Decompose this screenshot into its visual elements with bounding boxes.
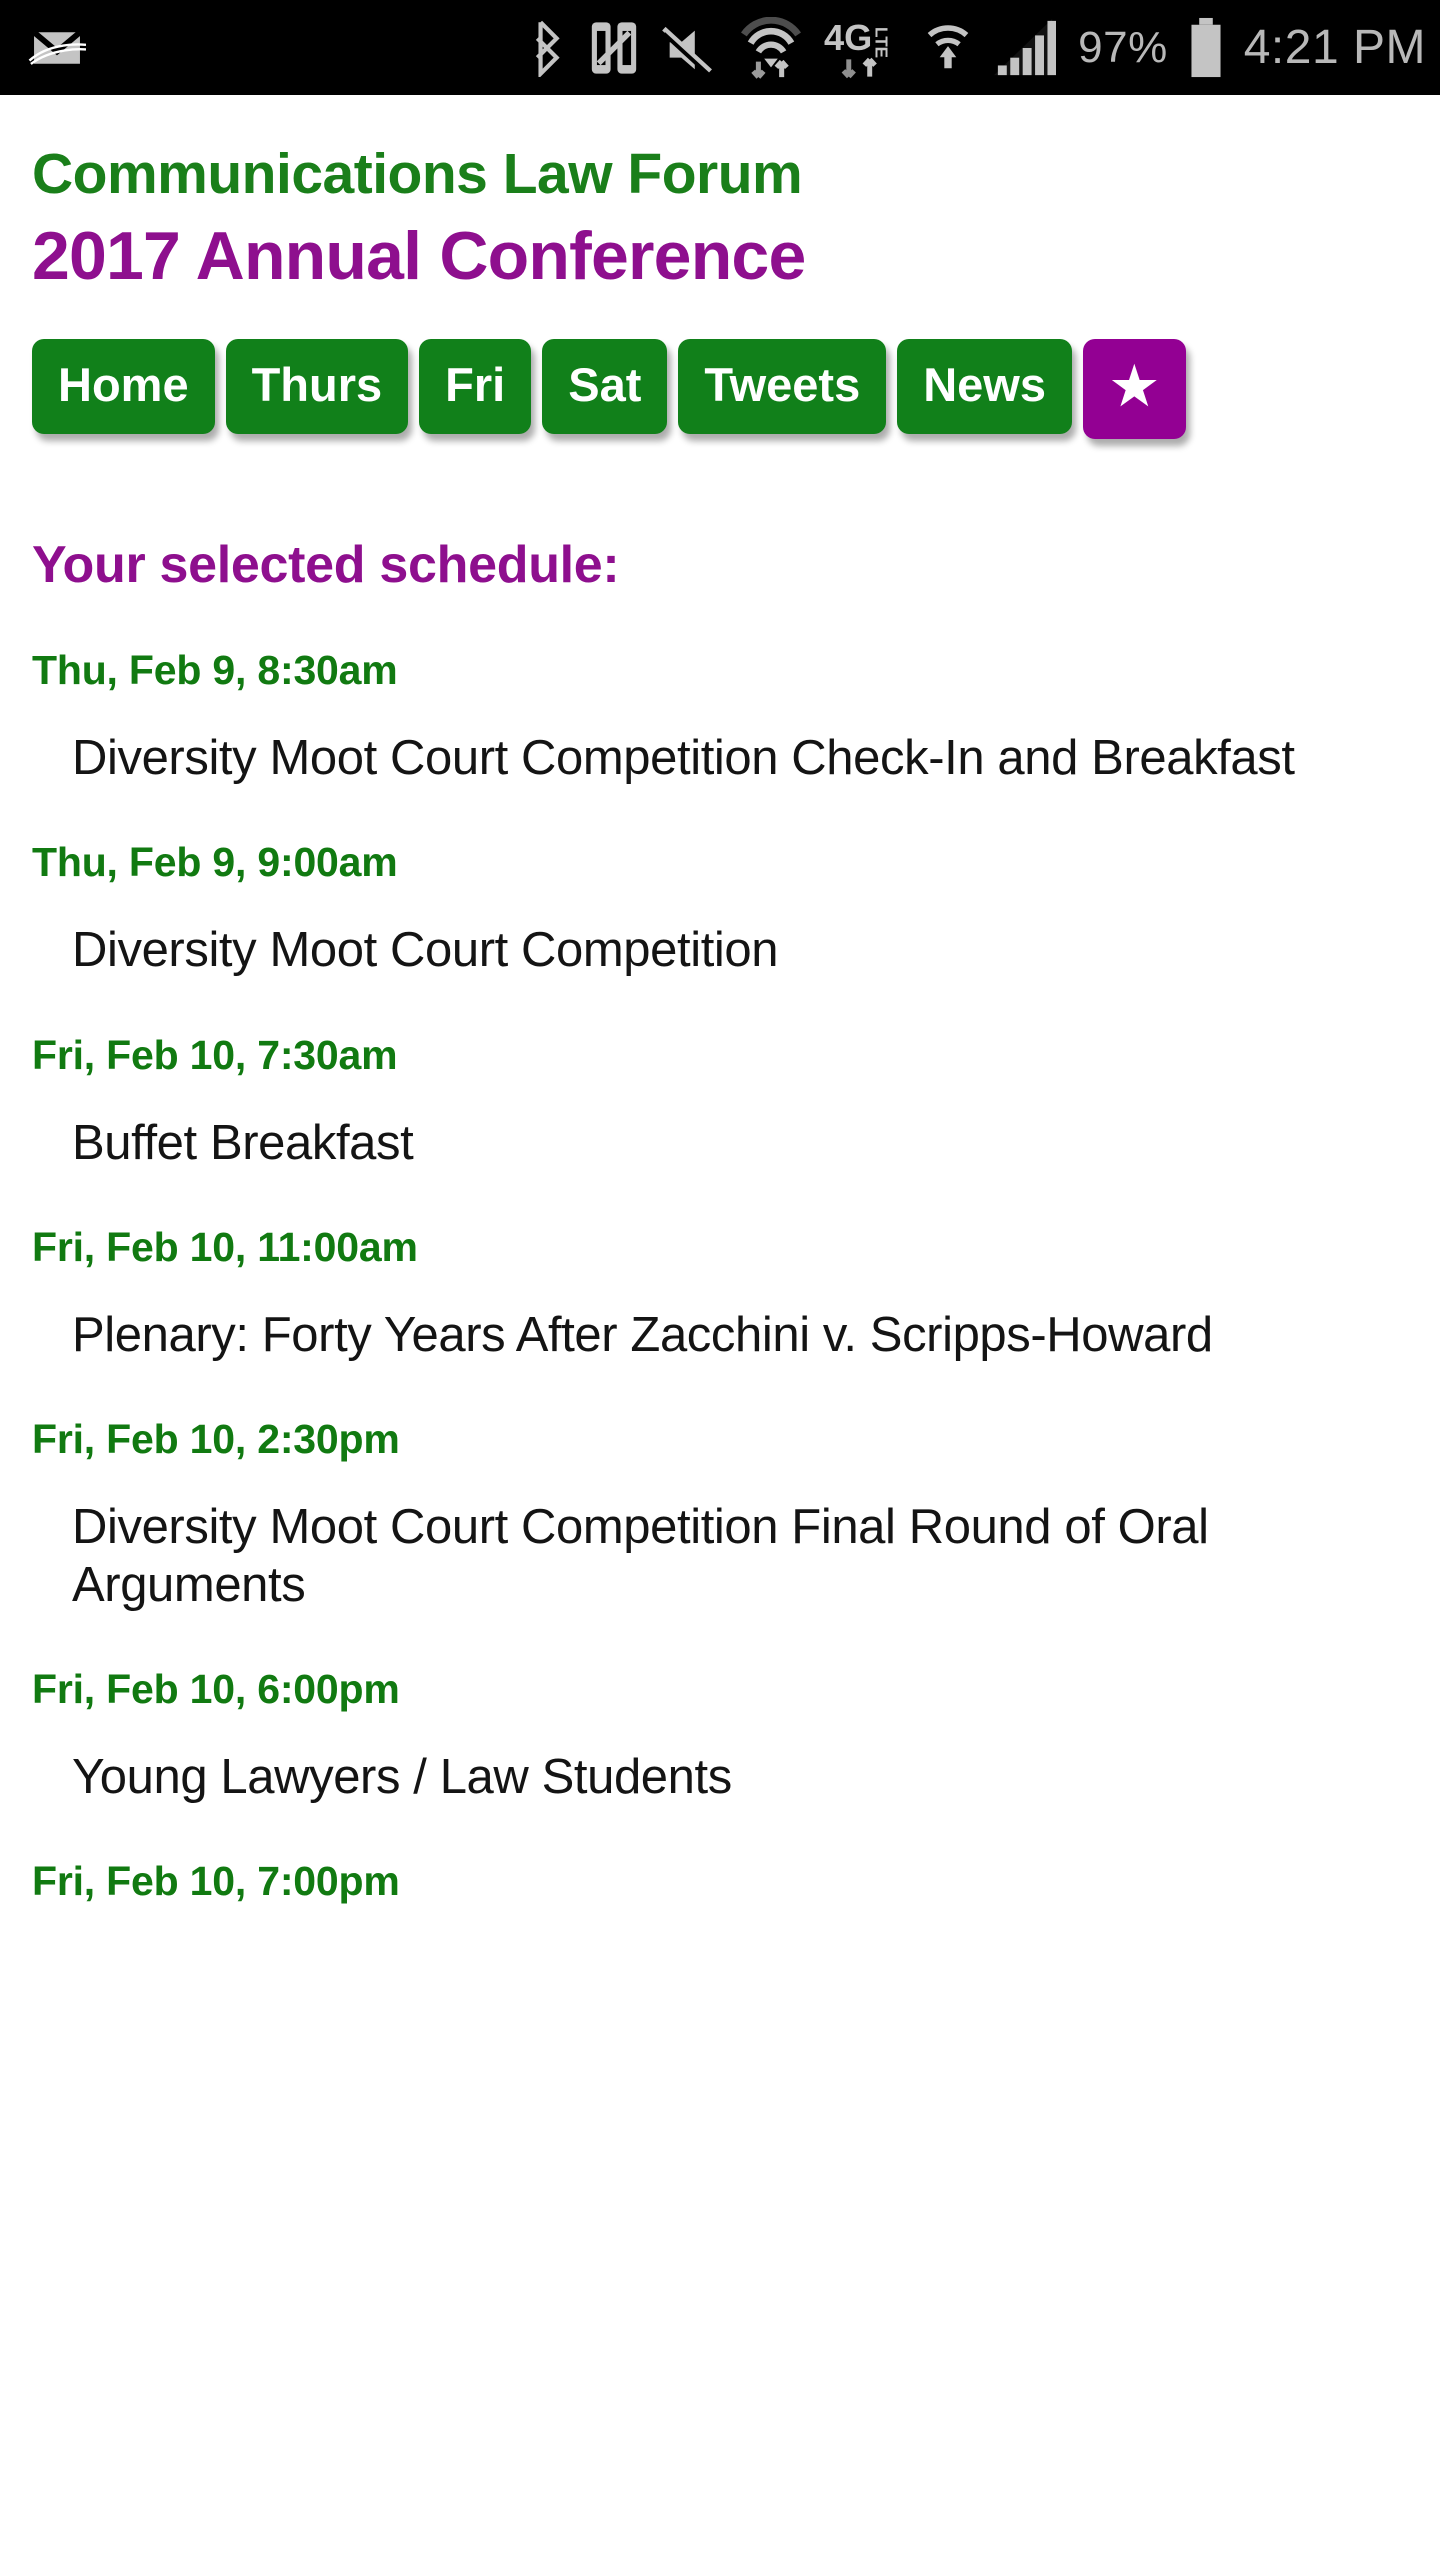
status-bar: 4G LTE 97% bbox=[0, 0, 1440, 95]
nav-thurs[interactable]: Thurs bbox=[226, 339, 409, 434]
schedule-section: Your selected schedule: Thu, Feb 9, 8:30… bbox=[0, 439, 1440, 1905]
schedule-item-time: Fri, Feb 10, 6:00pm bbox=[32, 1666, 1440, 1713]
nav-tweets[interactable]: Tweets bbox=[678, 339, 886, 434]
page-content: Communications Law Forum 2017 Annual Con… bbox=[0, 95, 1440, 1905]
mail-icon bbox=[28, 19, 86, 77]
schedule-item-time: Fri, Feb 10, 2:30pm bbox=[32, 1416, 1440, 1463]
schedule-item-time: Thu, Feb 9, 8:30am bbox=[32, 647, 1440, 694]
schedule-item: Fri, Feb 10, 7:00pm bbox=[32, 1858, 1440, 1905]
battery-full-icon bbox=[1188, 17, 1224, 79]
schedule-item-time: Fri, Feb 10, 7:30am bbox=[32, 1032, 1440, 1079]
schedule-item-time: Thu, Feb 9, 9:00am bbox=[32, 839, 1440, 886]
status-bar-left-group bbox=[28, 19, 86, 77]
svg-text:LTE: LTE bbox=[872, 27, 892, 58]
schedule-item-title[interactable]: Diversity Moot Court Competition Check-I… bbox=[72, 730, 1417, 787]
schedule-item-title[interactable]: Young Lawyers / Law Students bbox=[72, 1749, 1417, 1806]
svg-text:4G: 4G bbox=[824, 17, 872, 58]
nav-sat[interactable]: Sat bbox=[542, 339, 667, 434]
schedule-item-time: Fri, Feb 10, 11:00am bbox=[32, 1224, 1440, 1271]
organization-title: Communications Law Forum bbox=[32, 145, 1440, 205]
status-bar-right-group: 4G LTE 97% bbox=[526, 17, 1426, 79]
schedule-list: Thu, Feb 9, 8:30amDiversity Moot Court C… bbox=[32, 647, 1440, 1905]
nfc-icon bbox=[588, 19, 640, 77]
4g-lte-transfer-icon: 4G LTE bbox=[824, 17, 904, 79]
schedule-item-title[interactable]: Diversity Moot Court Competition Final R… bbox=[72, 1499, 1417, 1614]
conference-title: 2017 Annual Conference bbox=[32, 217, 1440, 295]
wifi-transfer-icon bbox=[738, 17, 804, 79]
volume-mute-icon bbox=[660, 19, 718, 77]
clock-label: 4:21 PM bbox=[1244, 20, 1426, 75]
cellular-signal-icon bbox=[992, 17, 1058, 79]
nav-fri[interactable]: Fri bbox=[419, 339, 531, 434]
nav-home[interactable]: Home bbox=[32, 339, 215, 434]
schedule-item: Fri, Feb 10, 6:00pmYoung Lawyers / Law S… bbox=[32, 1666, 1440, 1806]
schedule-item: Fri, Feb 10, 11:00amPlenary: Forty Years… bbox=[32, 1224, 1440, 1364]
main-navigation: HomeThursFriSatTweetsNews★ bbox=[0, 295, 1440, 439]
schedule-item: Fri, Feb 10, 2:30pmDiversity Moot Court … bbox=[32, 1416, 1440, 1614]
nav-news[interactable]: News bbox=[897, 339, 1072, 434]
battery-percent-label: 97% bbox=[1078, 23, 1168, 73]
schedule-heading: Your selected schedule: bbox=[32, 535, 1440, 595]
schedule-item-title[interactable]: Diversity Moot Court Competition bbox=[72, 922, 1417, 979]
header-title-block: Communications Law Forum 2017 Annual Con… bbox=[0, 95, 1440, 295]
schedule-item: Fri, Feb 10, 7:30amBuffet Breakfast bbox=[32, 1032, 1440, 1172]
bluetooth-icon bbox=[526, 19, 568, 77]
hotspot-icon bbox=[924, 19, 972, 77]
schedule-item-title[interactable]: Plenary: Forty Years After Zacchini v. S… bbox=[72, 1307, 1417, 1364]
schedule-item-title[interactable]: Buffet Breakfast bbox=[72, 1115, 1417, 1172]
schedule-item: Thu, Feb 9, 8:30amDiversity Moot Court C… bbox=[32, 647, 1440, 787]
nav-favorites-star[interactable]: ★ bbox=[1083, 339, 1186, 439]
schedule-item: Thu, Feb 9, 9:00amDiversity Moot Court C… bbox=[32, 839, 1440, 979]
star-icon: ★ bbox=[1111, 361, 1158, 413]
schedule-item-time: Fri, Feb 10, 7:00pm bbox=[32, 1858, 1440, 1905]
